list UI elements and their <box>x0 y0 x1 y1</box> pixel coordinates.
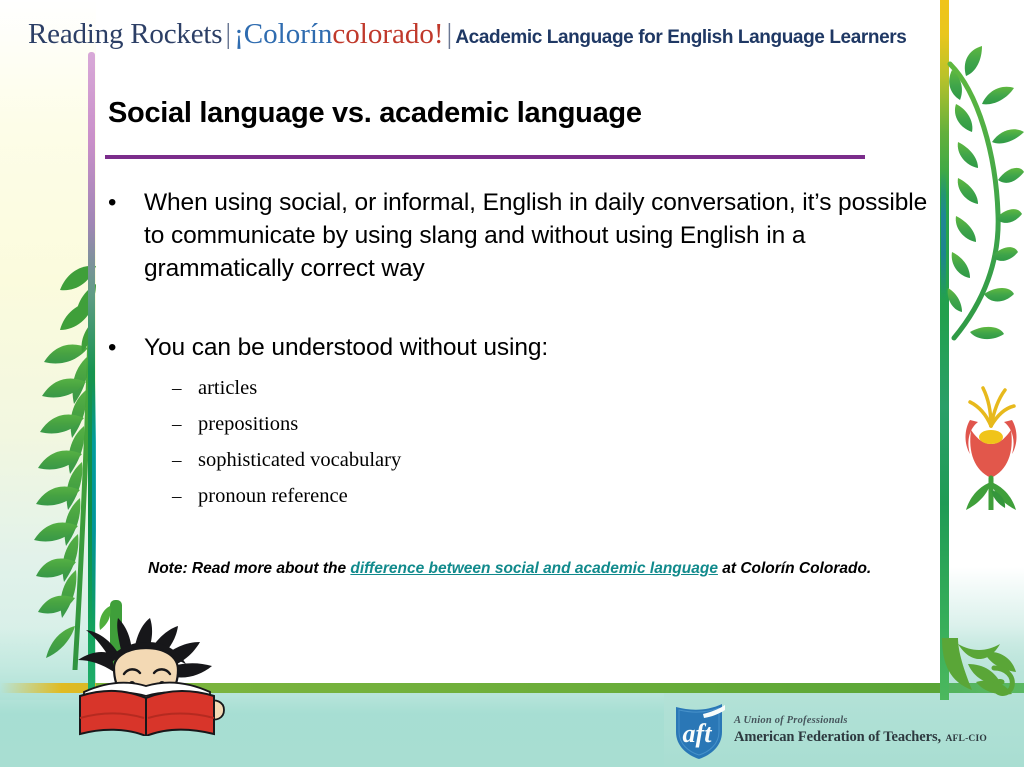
sub-bullet-marker: – <box>172 447 198 474</box>
sub-bullet-marker: – <box>172 411 198 438</box>
aft-text-block: A Union of Professionals American Federa… <box>734 715 987 746</box>
slide: Reading Rockets|¡Coloríncolorado!|Academ… <box>0 0 1024 767</box>
sub-bullet-item: – articles <box>172 375 934 402</box>
note-link[interactable]: difference between social and academic l… <box>350 560 718 577</box>
sub-bullet-text: prepositions <box>198 411 298 438</box>
bullet-text: When using social, or informal, English … <box>144 186 934 285</box>
sub-bullet-text: pronoun reference <box>198 483 348 510</box>
svg-text:aft: aft <box>683 719 713 748</box>
bullet-marker: • <box>104 186 144 220</box>
left-stem-sheen <box>92 380 96 630</box>
note-prefix: Note: Read more about the <box>148 560 350 577</box>
right-stem-decoration <box>940 0 949 700</box>
sub-bullet-marker: – <box>172 375 198 402</box>
sub-bullet-text: sophisticated vocabulary <box>198 447 401 474</box>
header-separator-2: | <box>444 18 456 50</box>
brand-reading-rockets: Reading Rockets <box>28 18 222 50</box>
leafy-vine-icon <box>944 46 1024 376</box>
sub-bullet-list: – articles – prepositions – sophisticate… <box>172 375 934 510</box>
note-suffix: at Colorín Colorado. <box>718 560 871 577</box>
bullet-spacer <box>104 289 934 331</box>
bullet-item-2: • You can be understood without using: <box>104 331 934 365</box>
bullet-text: You can be understood without using: <box>144 331 548 364</box>
slide-body: • When using social, or informal, Englis… <box>104 186 934 519</box>
brand-colorado: colorado! <box>332 18 443 50</box>
site-header: Reading Rockets|¡Coloríncolorado!|Academ… <box>28 18 906 51</box>
sub-bullet-item: – pronoun reference <box>172 483 934 510</box>
aft-federation-name: American Federation of Teachers, <box>734 729 941 745</box>
aft-union-tagline: A Union of Professionals <box>734 715 987 727</box>
header-separator-1: | <box>222 18 234 50</box>
aft-shield-icon: aft <box>673 702 725 760</box>
sub-bullet-marker: – <box>172 483 198 510</box>
aft-logo: aft A Union of Professionals American Fe… <box>673 702 987 760</box>
card-bottom-rule <box>96 683 940 693</box>
sub-bullet-item: – sophisticated vocabulary <box>172 447 934 474</box>
red-tulip-icon <box>958 382 1024 510</box>
brand-colorin: ¡Colorín <box>234 18 332 50</box>
slide-title: Social language vs. academic language <box>108 97 642 130</box>
sub-bullet-text: articles <box>198 375 257 402</box>
aft-afl-cio-label: AFL-CIO <box>945 734 987 744</box>
right-stem-sheen <box>941 170 946 300</box>
bullet-item-1: • When using social, or informal, Englis… <box>104 186 934 285</box>
title-underline-rule <box>105 155 865 159</box>
sub-bullet-item: – prepositions <box>172 411 934 438</box>
bullet-marker: • <box>104 331 144 365</box>
note-text: Note: Read more about the difference bet… <box>148 558 888 580</box>
header-tagline: Academic Language for English Language L… <box>455 27 906 48</box>
